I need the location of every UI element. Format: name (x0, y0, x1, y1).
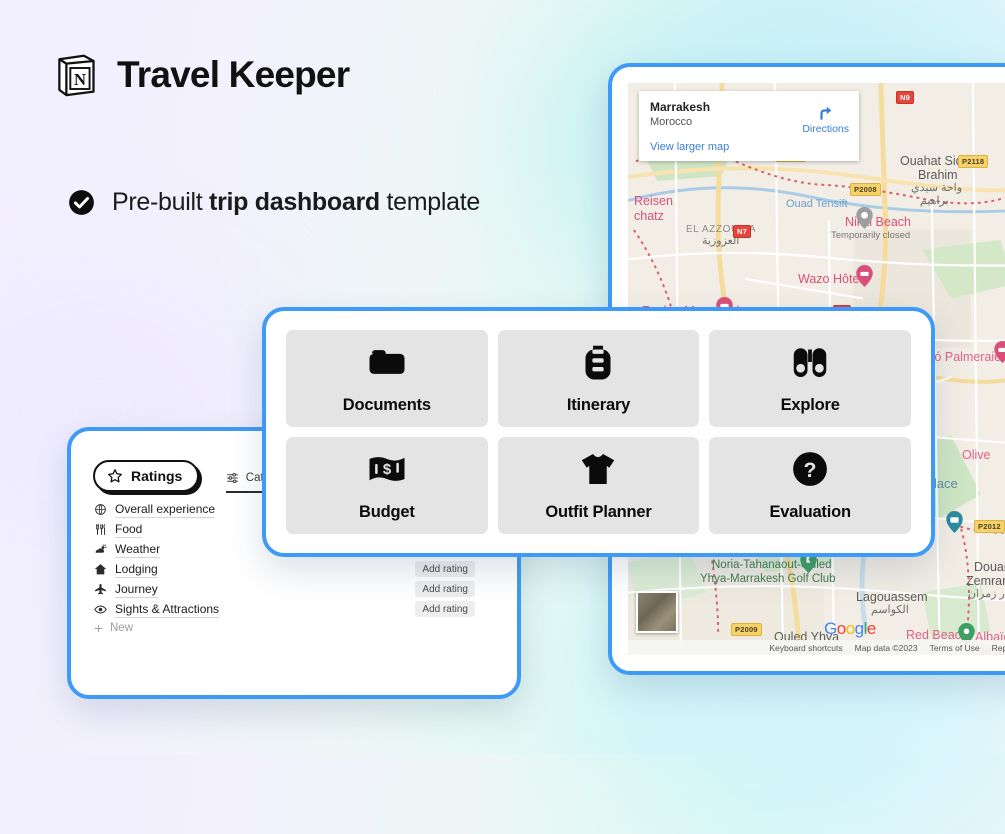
directions-button[interactable]: Directions (802, 103, 849, 135)
cloud-sun-icon (93, 543, 108, 556)
rating-row[interactable]: Sights & AttractionsAdd rating (71, 599, 517, 619)
road-shield-badge: P2118 (958, 155, 988, 168)
map-pin-hotel[interactable] (856, 265, 873, 287)
subtitle-bold: trip dashboard (209, 188, 380, 216)
cutlery-icon (93, 523, 108, 536)
rating-row[interactable]: JourneyAdd rating (71, 579, 517, 599)
road-shield-badge: P2009 (731, 623, 762, 636)
report-map-error-link[interactable]: Repo (992, 643, 1005, 653)
question-mark-circle-icon (790, 449, 830, 489)
new-row-label: New (110, 622, 133, 634)
rating-row[interactable]: LodgingAdd rating (71, 559, 517, 579)
dashboard-card-documents[interactable]: Documents (286, 330, 488, 427)
dashboard-card-explore[interactable]: Explore (709, 330, 911, 427)
map-footer: Keyboard shortcuts Map data ©2023 Terms … (628, 640, 1005, 655)
banknote-dollar-icon (367, 449, 407, 489)
dashboard-card-label: Evaluation (769, 503, 850, 522)
dashboard-card-label: Documents (343, 396, 431, 415)
rating-row-label: Sights & Attractions (115, 601, 219, 618)
rating-row-label: Food (115, 521, 142, 538)
rating-row-label: Lodging (115, 561, 158, 578)
dashboard-card-label: Itinerary (567, 396, 630, 415)
page-title: Travel Keeper (117, 54, 349, 96)
directions-arrow-icon (802, 103, 849, 121)
add-rating-button[interactable]: Add rating (415, 601, 475, 617)
trip-dashboard-panel[interactable]: DocumentsItineraryExploreBudgetOutfit Pl… (262, 307, 935, 557)
rating-row-label: Journey (115, 581, 158, 598)
rating-row-label: Weather (115, 541, 160, 558)
road-shield-badge: P2008 (850, 183, 881, 196)
brand-header: N Travel Keeper (55, 52, 349, 98)
google-watermark: Google (824, 619, 876, 639)
tab-ratings-label: Ratings (131, 468, 182, 484)
star-icon (107, 468, 123, 484)
globe-icon (93, 503, 108, 516)
map-pin-museum[interactable] (946, 511, 963, 533)
dashboard-card-grid: DocumentsItineraryExploreBudgetOutfit Pl… (286, 330, 911, 534)
subtitle-row: Pre-built trip dashboard template (68, 188, 480, 217)
binoculars-icon (790, 342, 830, 382)
subtitle-suffix: template (380, 188, 480, 216)
add-rating-button[interactable]: Add rating (415, 581, 475, 597)
subtitle-text: Pre-built trip dashboard template (112, 188, 480, 217)
folder-icon (367, 342, 407, 382)
house-icon (93, 563, 108, 576)
map-pin-hotel[interactable] (994, 341, 1005, 363)
dashboard-card-evaluation[interactable]: Evaluation (709, 437, 911, 534)
dashboard-card-label: Budget (359, 503, 415, 522)
terms-of-use-link[interactable]: Terms of Use (930, 643, 980, 653)
notion-logo-icon: N (55, 52, 97, 98)
view-larger-map-link[interactable]: View larger map (650, 141, 848, 153)
dashboard-card-budget[interactable]: Budget (286, 437, 488, 534)
check-circle-icon (68, 189, 95, 216)
rating-row-label: Overall experience (115, 501, 215, 518)
sliders-icon (226, 471, 239, 484)
map-pin[interactable] (856, 207, 873, 229)
subtitle-prefix: Pre-built (112, 188, 209, 216)
airplane-icon (93, 583, 108, 596)
plus-icon (93, 623, 104, 634)
directions-label: Directions (802, 123, 849, 135)
map-data-attribution: Map data ©2023 (855, 643, 918, 653)
new-row-button[interactable]: New (71, 619, 517, 634)
road-shield-badge: P2012 (974, 520, 1005, 533)
road-shield-badge: N9 (896, 91, 914, 104)
dashboard-card-label: Explore (781, 396, 840, 415)
svg-text:N: N (74, 70, 86, 89)
road-shield-badge: N7 (733, 225, 751, 238)
dashboard-card-label: Outfit Planner (545, 503, 651, 522)
eye-icon (93, 603, 108, 616)
backpack-icon (578, 342, 618, 382)
tshirt-icon (578, 449, 618, 489)
tab-ratings[interactable]: Ratings (93, 460, 199, 492)
add-rating-button[interactable]: Add rating (415, 561, 475, 577)
keyboard-shortcuts-link[interactable]: Keyboard shortcuts (769, 643, 842, 653)
map-info-card[interactable]: Marrakesh Morocco View larger map Direct… (639, 91, 859, 161)
map-street-view-thumbnail[interactable] (636, 591, 678, 633)
dashboard-card-itinerary[interactable]: Itinerary (498, 330, 700, 427)
dashboard-card-outfit-planner[interactable]: Outfit Planner (498, 437, 700, 534)
